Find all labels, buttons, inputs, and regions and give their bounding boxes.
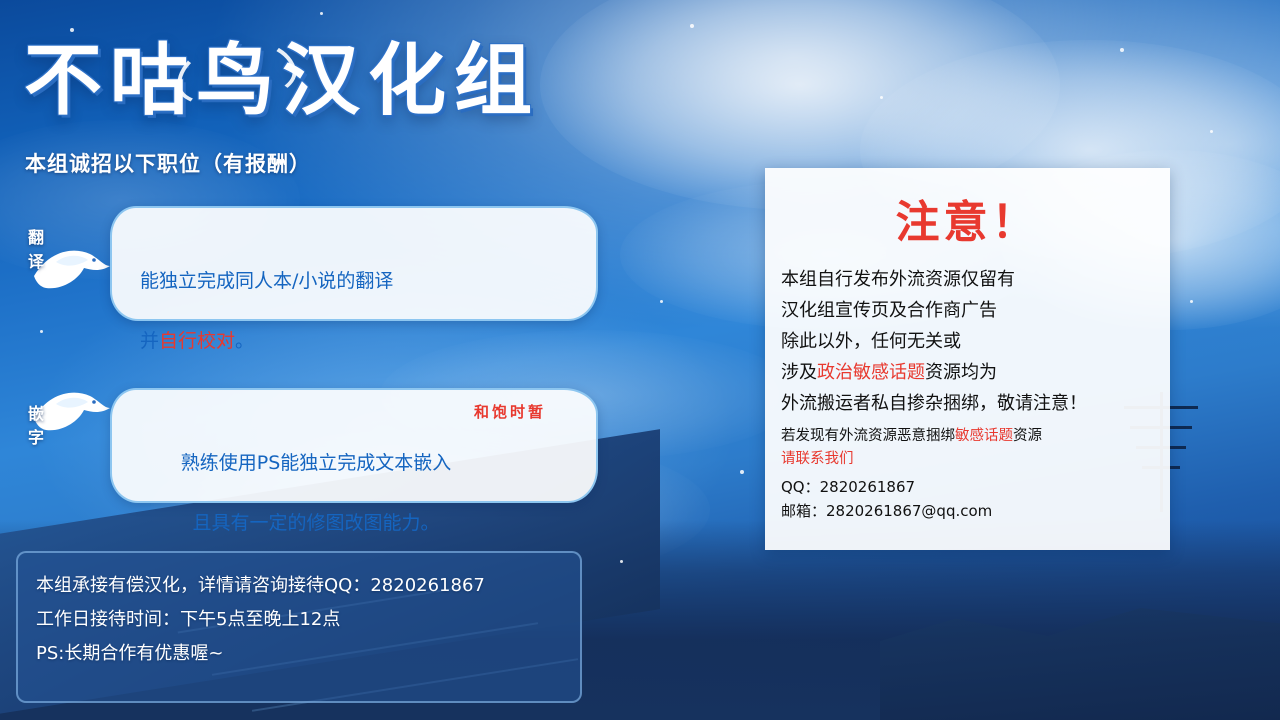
notice-sub-suffix: 资源 bbox=[1013, 428, 1042, 444]
role-typeset-line2-suffix: 能力。 bbox=[383, 512, 440, 534]
role-translate-line2-highlight: 自行校对 bbox=[159, 330, 235, 352]
snow-fleck bbox=[40, 330, 43, 333]
snow-fleck bbox=[740, 470, 744, 474]
snow-fleck bbox=[880, 96, 883, 99]
notice-contact-us-link[interactable]: 请联系我们 bbox=[781, 451, 854, 467]
role-bubble-translate: 能独立完成同人本/小说的翻译 并自行校对。 bbox=[110, 206, 598, 321]
notice-panel: 注意！ 本组自行发布外流资源仅留有 汉化组宣传页及合作商广告 除此以外，任何无关… bbox=[765, 168, 1170, 550]
role-typeset-line1: 熟练使用PS能独立完成文本嵌入 bbox=[181, 452, 452, 474]
notice-qq[interactable]: QQ：2820261867 bbox=[781, 478, 915, 496]
notice-contact-block: QQ：2820261867 邮箱：2820261867@qq.com bbox=[781, 475, 1170, 523]
poster-root: 不咕鸟汉化组 本组诚招以下职位（有报酬） 翻译 能独立完成同人本/小说的翻译 并… bbox=[0, 0, 1280, 720]
role-tag-translate: 翻译 bbox=[28, 224, 46, 272]
notice-subnote: 若发现有外流资源恶意捆绑敏感话题资源 请联系我们 bbox=[781, 425, 1170, 471]
role-typeset-line2-prefix: 且具有一定的 bbox=[192, 512, 306, 534]
recruit-subtitle: 本组诚招以下职位（有报酬） bbox=[25, 148, 311, 178]
notice-body-line-2: 汉化组宣传页及合作商广告 bbox=[781, 300, 997, 321]
notice-body-line-4-highlight: 政治敏感话题 bbox=[817, 362, 925, 383]
snow-fleck bbox=[1190, 300, 1193, 303]
snow-fleck bbox=[320, 12, 323, 15]
notice-body-line-4-prefix: 涉及 bbox=[781, 362, 817, 383]
notice-body-line-1: 本组自行发布外流资源仅留有 bbox=[781, 269, 1015, 290]
role-typeset-line2-highlight: 修图改图 bbox=[306, 512, 382, 534]
notice-body-line-4-suffix: 资源均为 bbox=[925, 362, 997, 383]
role-translate-line2-prefix: 并 bbox=[140, 330, 159, 352]
bottom-line-2: 工作日接待时间：下午5点至晚上12点 bbox=[36, 603, 580, 637]
role-tag-typeset: 嵌字 bbox=[28, 400, 46, 448]
snow-fleck bbox=[660, 300, 663, 303]
notice-body: 本组自行发布外流资源仅留有 汉化组宣传页及合作商广告 除此以外，任何无关或 涉及… bbox=[781, 264, 1170, 419]
role-translate-line2-suffix: 。 bbox=[235, 330, 254, 352]
role-typeset-status-note: 暂时饱和 bbox=[472, 404, 544, 420]
snow-fleck bbox=[1120, 48, 1124, 52]
notice-sub-highlight: 敏感话题 bbox=[955, 428, 1013, 444]
role-translate-line1: 能独立完成同人本/小说的翻译 bbox=[140, 270, 393, 292]
notice-title: 注意！ bbox=[765, 186, 1170, 250]
notice-email[interactable]: 邮箱：2820261867@qq.com bbox=[781, 502, 992, 520]
snow-fleck bbox=[690, 24, 694, 28]
notice-body-line-5: 外流搬运者私自掺杂捆绑，敬请注意！ bbox=[781, 393, 1087, 414]
notice-body-line-3: 除此以外，任何无关或 bbox=[781, 331, 961, 352]
bottom-line-3: PS:长期合作有优惠喔~ bbox=[36, 637, 580, 671]
notice-sub-prefix: 若发现有外流资源恶意捆绑 bbox=[781, 428, 955, 444]
bottom-info-bar: 本组承接有偿汉化，详情请咨询接待QQ：2820261867 工作日接待时间：下午… bbox=[16, 551, 582, 703]
snow-fleck bbox=[1210, 130, 1213, 133]
bottom-line-1: 本组承接有偿汉化，详情请咨询接待QQ：2820261867 bbox=[36, 569, 580, 603]
